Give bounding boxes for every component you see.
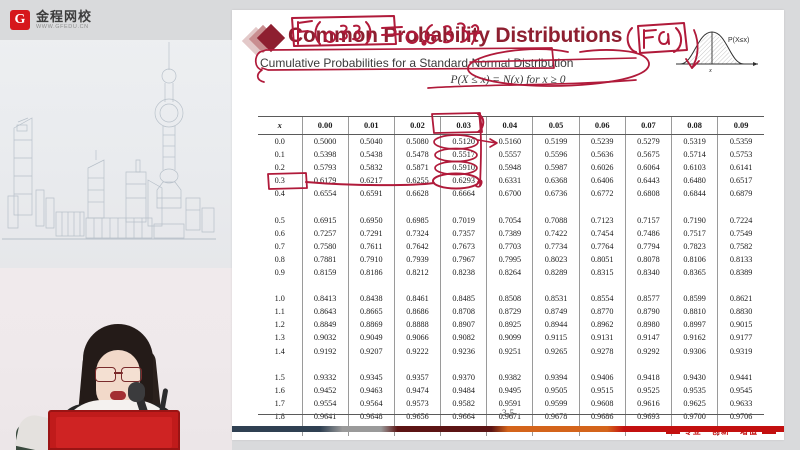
table-cell: 0.5160 bbox=[487, 135, 533, 149]
glasses-icon bbox=[95, 367, 142, 380]
table-cell: 0.7157 bbox=[625, 214, 671, 227]
presentation-slide[interactable]: Common Probability Distributions Cumulat… bbox=[232, 10, 784, 440]
table-cell: 0.9222 bbox=[394, 345, 440, 358]
shanghai-skyline-artwork bbox=[0, 40, 232, 270]
table-cell: 0.8686 bbox=[394, 305, 440, 318]
table-cell: 0.9115 bbox=[533, 331, 579, 344]
table-cell: 0.5753 bbox=[718, 148, 764, 161]
table-cell: 0.8340 bbox=[625, 266, 671, 279]
screen-root: 金程网校 WWW.GFEDU.CN Common Probability Dis… bbox=[0, 0, 800, 450]
table-cell: 0.6480 bbox=[672, 174, 718, 187]
table-cell: 0.6664 bbox=[441, 187, 487, 200]
table-cell: 0.5910 bbox=[441, 161, 487, 174]
table-row-label: 1.3 bbox=[258, 331, 302, 344]
table-row: 0.90.81590.81860.82120.82380.82640.82890… bbox=[258, 266, 764, 279]
footer-slogan: 专业 · 创新 · 增值 bbox=[666, 426, 776, 437]
table-cell: 0.8461 bbox=[394, 292, 440, 305]
table-cell: 0.6141 bbox=[718, 161, 764, 174]
table-group-spacer bbox=[258, 358, 764, 371]
table-row-label: 1.6 bbox=[258, 384, 302, 397]
table-cell: 0.8051 bbox=[579, 253, 625, 266]
table-row-label: 0.7 bbox=[258, 240, 302, 253]
table-row: 0.30.61790.62170.62550.62930.63310.63680… bbox=[258, 174, 764, 187]
table-row: 1.50.93320.93450.93570.93700.93820.93940… bbox=[258, 371, 764, 384]
table-cell: 0.5557 bbox=[487, 148, 533, 161]
table-cell: 0.7881 bbox=[302, 253, 348, 266]
table-col-header: 0.09 bbox=[718, 117, 764, 135]
table-row: 0.80.78810.79100.79390.79670.79950.80230… bbox=[258, 253, 764, 266]
table-cell: 0.9418 bbox=[625, 371, 671, 384]
table-cell: 0.8599 bbox=[672, 292, 718, 305]
table-cell: 0.5793 bbox=[302, 161, 348, 174]
table-cell: 0.8708 bbox=[441, 305, 487, 318]
table-cell: 0.8888 bbox=[394, 318, 440, 331]
table-cell: 0.8485 bbox=[441, 292, 487, 305]
logo-website-url: WWW.GFEDU.CN bbox=[36, 25, 92, 31]
table-row: 1.40.91920.92070.92220.92360.92510.92650… bbox=[258, 345, 764, 358]
standard-normal-table: x 0.00 0.01 0.02 0.03 0.04 0.05 0.06 0.0… bbox=[258, 116, 764, 436]
table-cell: 0.8531 bbox=[533, 292, 579, 305]
table-cell: 0.5120 bbox=[441, 135, 487, 149]
table-cell: 0.5080 bbox=[394, 135, 440, 149]
table-cell: 0.8925 bbox=[487, 318, 533, 331]
table-cell: 0.6064 bbox=[625, 161, 671, 174]
table-cell: 0.7794 bbox=[625, 240, 671, 253]
table-cell: 0.8186 bbox=[348, 266, 394, 279]
table-col-header: 0.08 bbox=[672, 117, 718, 135]
table-cell: 0.6844 bbox=[672, 187, 718, 200]
table-cell: 0.7673 bbox=[441, 240, 487, 253]
table-cell: 0.9207 bbox=[348, 345, 394, 358]
table-cell: 0.8907 bbox=[441, 318, 487, 331]
table-cell: 0.6985 bbox=[394, 214, 440, 227]
table-cell: 0.7324 bbox=[394, 227, 440, 240]
table-group-spacer bbox=[258, 279, 764, 292]
table-cell: 0.5359 bbox=[718, 135, 764, 149]
table-row-label: 0.5 bbox=[258, 214, 302, 227]
table-row-label: 1.0 bbox=[258, 292, 302, 305]
table-cell: 0.9357 bbox=[394, 371, 440, 384]
table-row: 1.20.88490.88690.88880.89070.89250.89440… bbox=[258, 318, 764, 331]
gf-logo-icon bbox=[10, 10, 30, 30]
table-cell: 0.5438 bbox=[348, 148, 394, 161]
table-row: 0.50.69150.69500.69850.70190.70540.70880… bbox=[258, 214, 764, 227]
table-cell: 0.9032 bbox=[302, 331, 348, 344]
table-cell: 0.5714 bbox=[672, 148, 718, 161]
table-row: 0.60.72570.72910.73240.73570.73890.74220… bbox=[258, 227, 764, 240]
table-cell: 0.8849 bbox=[302, 318, 348, 331]
table-cell: 0.7703 bbox=[487, 240, 533, 253]
table-cell: 0.9545 bbox=[718, 384, 764, 397]
table-cell: 0.7486 bbox=[625, 227, 671, 240]
table-cell: 0.6406 bbox=[579, 174, 625, 187]
table-cell: 0.8315 bbox=[579, 266, 625, 279]
table-row-label: 0.1 bbox=[258, 148, 302, 161]
slogan-dash-left-icon bbox=[666, 430, 680, 434]
table-row: 0.20.57930.58320.58710.59100.59480.59870… bbox=[258, 161, 764, 174]
table-cell: 0.9265 bbox=[533, 345, 579, 358]
table-cell: 0.8078 bbox=[625, 253, 671, 266]
table-cell: 0.5871 bbox=[394, 161, 440, 174]
table-row: 0.70.75800.76110.76420.76730.77030.77340… bbox=[258, 240, 764, 253]
table-cell: 0.8749 bbox=[533, 305, 579, 318]
table-cell: 0.9162 bbox=[672, 331, 718, 344]
table-cell: 0.5279 bbox=[625, 135, 671, 149]
table-cell: 0.9382 bbox=[487, 371, 533, 384]
table-cell: 0.6950 bbox=[348, 214, 394, 227]
table-cell: 0.6772 bbox=[579, 187, 625, 200]
table-cell: 0.6331 bbox=[487, 174, 533, 187]
table-cell: 0.9177 bbox=[718, 331, 764, 344]
table-row: 1.00.84130.84380.84610.84850.85080.85310… bbox=[258, 292, 764, 305]
table-row-label: 1.2 bbox=[258, 318, 302, 331]
table-row: 1.30.90320.90490.90660.90820.90990.91150… bbox=[258, 331, 764, 344]
table-cell: 0.7549 bbox=[718, 227, 764, 240]
table-col-header: 0.05 bbox=[533, 117, 579, 135]
table-cell: 0.7967 bbox=[441, 253, 487, 266]
table-cell: 0.7734 bbox=[533, 240, 579, 253]
table-row-label: 1.5 bbox=[258, 371, 302, 384]
table-cell: 0.5987 bbox=[533, 161, 579, 174]
table-cell: 0.9474 bbox=[394, 384, 440, 397]
table-cell: 0.9484 bbox=[441, 384, 487, 397]
table-col-header: 0.06 bbox=[579, 117, 625, 135]
table-cell: 0.9515 bbox=[579, 384, 625, 397]
table-cell: 0.8133 bbox=[718, 253, 764, 266]
table-cell: 0.9463 bbox=[348, 384, 394, 397]
table-cell: 0.6628 bbox=[394, 187, 440, 200]
table-cell: 0.5636 bbox=[579, 148, 625, 161]
table-cell: 0.6026 bbox=[579, 161, 625, 174]
table-cell: 0.6179 bbox=[302, 174, 348, 187]
table-col-header: 0.01 bbox=[348, 117, 394, 135]
table-cell: 0.6591 bbox=[348, 187, 394, 200]
table-cell: 0.5040 bbox=[348, 135, 394, 149]
table-cell: 0.7939 bbox=[394, 253, 440, 266]
table-cell: 0.6255 bbox=[394, 174, 440, 187]
table-cell: 0.8577 bbox=[625, 292, 671, 305]
table-cell: 0.9292 bbox=[625, 345, 671, 358]
table-cell: 0.7389 bbox=[487, 227, 533, 240]
slogan-dash-right-icon bbox=[762, 430, 776, 434]
table-cell: 0.8289 bbox=[533, 266, 579, 279]
table-cell: 0.8264 bbox=[487, 266, 533, 279]
table-cell: 0.8413 bbox=[302, 292, 348, 305]
microphone-icon bbox=[128, 382, 145, 402]
table-cell: 0.8770 bbox=[579, 305, 625, 318]
table-cell: 0.5239 bbox=[579, 135, 625, 149]
table-cell: 0.9495 bbox=[487, 384, 533, 397]
normal-curve-diagram: P(X≤x) x bbox=[674, 18, 778, 76]
table-cell: 0.9505 bbox=[533, 384, 579, 397]
table-cell: 0.9066 bbox=[394, 331, 440, 344]
table-cell: 0.8729 bbox=[487, 305, 533, 318]
table-cell: 0.5832 bbox=[348, 161, 394, 174]
table-cell: 0.7642 bbox=[394, 240, 440, 253]
table-cell: 0.7764 bbox=[579, 240, 625, 253]
instructor-figure bbox=[0, 250, 232, 450]
table-cell: 0.6368 bbox=[533, 174, 579, 187]
table-cell: 0.9192 bbox=[302, 345, 348, 358]
table-cell: 0.6293 bbox=[441, 174, 487, 187]
table-cell: 0.9332 bbox=[302, 371, 348, 384]
table-cell: 0.8830 bbox=[718, 305, 764, 318]
table-cell: 0.9430 bbox=[672, 371, 718, 384]
table-cell: 0.7422 bbox=[533, 227, 579, 240]
table-row: 0.00.50000.50400.50800.51200.51600.51990… bbox=[258, 135, 764, 149]
table-cell: 0.5478 bbox=[394, 148, 440, 161]
table-row: 0.40.65540.65910.66280.66640.67000.67360… bbox=[258, 187, 764, 200]
table-cell: 0.9015 bbox=[718, 318, 764, 331]
laptop-screen bbox=[48, 410, 180, 450]
logo-company-name: 金程网校 bbox=[36, 10, 92, 23]
table-cell: 0.7611 bbox=[348, 240, 394, 253]
table-cell: 0.9525 bbox=[625, 384, 671, 397]
table-cell: 0.9236 bbox=[441, 345, 487, 358]
table-cell: 0.6554 bbox=[302, 187, 348, 200]
slide-subtitle: Cumulative Probabilities for a Standard … bbox=[260, 56, 573, 70]
table-cell: 0.8665 bbox=[348, 305, 394, 318]
table-cell: 0.7190 bbox=[672, 214, 718, 227]
table-cell: 0.9345 bbox=[348, 371, 394, 384]
table-cell: 0.7995 bbox=[487, 253, 533, 266]
table-cell: 0.9131 bbox=[579, 331, 625, 344]
table-cell: 0.5948 bbox=[487, 161, 533, 174]
table-cell: 0.8438 bbox=[348, 292, 394, 305]
table-cell: 0.9535 bbox=[672, 384, 718, 397]
table-row-label: 1.4 bbox=[258, 345, 302, 358]
table-cell: 0.6443 bbox=[625, 174, 671, 187]
table-col-header: x bbox=[258, 117, 302, 135]
table-row: 1.10.86430.86650.86860.87080.87290.87490… bbox=[258, 305, 764, 318]
table-cell: 0.8106 bbox=[672, 253, 718, 266]
table-cell: 0.9319 bbox=[718, 345, 764, 358]
table-cell: 0.8810 bbox=[672, 305, 718, 318]
table-row-label: 0.0 bbox=[258, 135, 302, 149]
table-body: 0.00.50000.50400.50800.51200.51600.51990… bbox=[258, 135, 764, 437]
table-row-label: 1.1 bbox=[258, 305, 302, 318]
table-cell: 0.7257 bbox=[302, 227, 348, 240]
table-row-label: 0.4 bbox=[258, 187, 302, 200]
slide-number: 3-5 bbox=[232, 408, 784, 418]
table-cell: 0.8621 bbox=[718, 292, 764, 305]
table-cell: 0.7517 bbox=[672, 227, 718, 240]
table-cell: 0.8365 bbox=[672, 266, 718, 279]
table-cell: 0.7454 bbox=[579, 227, 625, 240]
table-cell: 0.8997 bbox=[672, 318, 718, 331]
table-cell: 0.7580 bbox=[302, 240, 348, 253]
table-cell: 0.6700 bbox=[487, 187, 533, 200]
table-cell: 0.7019 bbox=[441, 214, 487, 227]
table-cell: 0.8023 bbox=[533, 253, 579, 266]
table-col-header: 0.02 bbox=[394, 117, 440, 135]
table-cell: 0.9278 bbox=[579, 345, 625, 358]
table-cell: 0.5199 bbox=[533, 135, 579, 149]
table-cell: 0.8643 bbox=[302, 305, 348, 318]
table-cell: 0.6808 bbox=[625, 187, 671, 200]
table-cell: 0.7291 bbox=[348, 227, 394, 240]
table-group-spacer bbox=[258, 200, 764, 213]
table-cell: 0.7224 bbox=[718, 214, 764, 227]
table-cell: 0.5517 bbox=[441, 148, 487, 161]
table-cell: 0.9147 bbox=[625, 331, 671, 344]
table-cell: 0.9306 bbox=[672, 345, 718, 358]
table-cell: 0.9441 bbox=[718, 371, 764, 384]
brand-logo-bar: 金程网校 WWW.GFEDU.CN bbox=[0, 0, 232, 40]
table-cell: 0.8212 bbox=[394, 266, 440, 279]
table-cell: 0.7910 bbox=[348, 253, 394, 266]
table-cell: 0.8962 bbox=[579, 318, 625, 331]
table-cell: 0.8980 bbox=[625, 318, 671, 331]
table-cell: 0.9370 bbox=[441, 371, 487, 384]
svg-text:P(X≤x): P(X≤x) bbox=[728, 37, 749, 44]
slogan-text: 专业 · 创新 · 增值 bbox=[684, 426, 758, 437]
instructor-video-panel[interactable]: 金程网校 WWW.GFEDU.CN bbox=[0, 0, 232, 450]
table-cell: 0.9082 bbox=[441, 331, 487, 344]
table-cell: 0.7054 bbox=[487, 214, 533, 227]
slide-header: Common Probability Distributions Cumulat… bbox=[232, 10, 784, 94]
table-cell: 0.6879 bbox=[718, 187, 764, 200]
table-cell: 0.9049 bbox=[348, 331, 394, 344]
table-col-header: 0.03 bbox=[441, 117, 487, 135]
table-cell: 0.7088 bbox=[533, 214, 579, 227]
table-cell: 0.6736 bbox=[533, 187, 579, 200]
table-cell: 0.6517 bbox=[718, 174, 764, 187]
table-col-header: 0.00 bbox=[302, 117, 348, 135]
table-cell: 0.8389 bbox=[718, 266, 764, 279]
table-cell: 0.6915 bbox=[302, 214, 348, 227]
table-row: 1.60.94520.94630.94740.94840.94950.95050… bbox=[258, 384, 764, 397]
table-cell: 0.9452 bbox=[302, 384, 348, 397]
table-cell: 0.7823 bbox=[672, 240, 718, 253]
diamond-bullet-icon bbox=[246, 26, 288, 54]
table-cell: 0.8790 bbox=[625, 305, 671, 318]
table-cell: 0.8554 bbox=[579, 292, 625, 305]
table-cell: 0.8508 bbox=[487, 292, 533, 305]
table-row-label: 0.8 bbox=[258, 253, 302, 266]
table-cell: 0.8869 bbox=[348, 318, 394, 331]
table-cell: 0.5000 bbox=[302, 135, 348, 149]
table-cell: 0.6217 bbox=[348, 174, 394, 187]
table-col-header: 0.04 bbox=[487, 117, 533, 135]
table-row-label: 0.2 bbox=[258, 161, 302, 174]
table-col-header: 0.07 bbox=[625, 117, 671, 135]
table-row-label: 0.9 bbox=[258, 266, 302, 279]
table-cell: 0.8238 bbox=[441, 266, 487, 279]
table-header-row: x 0.00 0.01 0.02 0.03 0.04 0.05 0.06 0.0… bbox=[258, 117, 764, 135]
table-cell: 0.9406 bbox=[579, 371, 625, 384]
svg-text:x: x bbox=[708, 67, 712, 74]
table-cell: 0.5319 bbox=[672, 135, 718, 149]
slide-title: Common Probability Distributions bbox=[288, 24, 622, 48]
table-cell: 0.8159 bbox=[302, 266, 348, 279]
table-cell: 0.7582 bbox=[718, 240, 764, 253]
table-cell: 0.7123 bbox=[579, 214, 625, 227]
table-cell: 0.9251 bbox=[487, 345, 533, 358]
table-cell: 0.7357 bbox=[441, 227, 487, 240]
table-cell: 0.5675 bbox=[625, 148, 671, 161]
table-row: 0.10.53980.54380.54780.55170.55570.55960… bbox=[258, 148, 764, 161]
table-cell: 0.5398 bbox=[302, 148, 348, 161]
table-cell: 0.5596 bbox=[533, 148, 579, 161]
table-row-label: 0.3 bbox=[258, 174, 302, 187]
table-cell: 0.9099 bbox=[487, 331, 533, 344]
table-cell: 0.8944 bbox=[533, 318, 579, 331]
table-cell: 0.9394 bbox=[533, 371, 579, 384]
table-cell: 0.6103 bbox=[672, 161, 718, 174]
table-row-label: 0.6 bbox=[258, 227, 302, 240]
